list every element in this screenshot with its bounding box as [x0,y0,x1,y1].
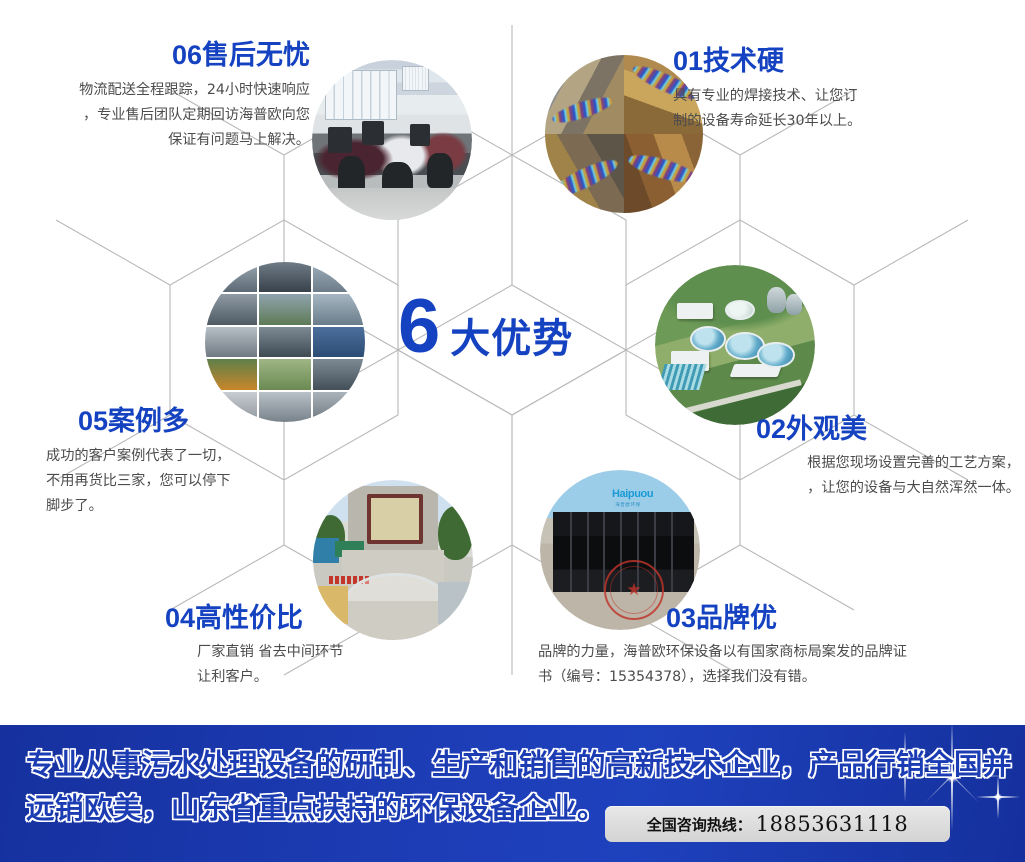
advantage-desc-02: 根据您现场设置完善的工艺方案， ，让您的设备与大自然浑然一体。 [600,451,1020,501]
photo-project-cases-collage [205,262,365,422]
advantage-title-06: 06售后无忧 [4,42,310,69]
photo-aerial-wastewater-plant [655,265,815,425]
advantage-block-03: 03品牌优 品牌的力量，海普欧环保设备以有国家商标局案发的品牌证 书（编号：15… [538,605,1018,690]
center-title: 大优势 [450,319,573,359]
hotline-label: 全国咨询热线： [647,814,752,835]
advantage-title-03: 03品牌优 [538,605,1018,632]
advantage-desc-04: 厂家直销 省去中间环节 让利客户。 [165,640,495,690]
advantage-title-05: 05案例多 [78,408,408,435]
advantage-title-02: 02外观美 [600,416,1020,443]
advantage-desc-01: 具有专业的焊接技术、让您订 制的设备寿命延长30年以上。 [673,84,993,134]
advantage-block-04: 04高性价比 厂家直销 省去中间环节 让利客户。 [165,605,495,690]
banner-slogan: 专业从事污水处理设备的研制、生产和销售的高新技术企业，产品行销全国并 远销欧美，… [26,743,626,831]
advantage-block-02: 02外观美 根据您现场设置完善的工艺方案， ，让您的设备与大自然浑然一体。 [600,416,1020,501]
infographic-root: Haipuou 海普欧环保 ★ 6 大优势 06售后无忧 物流配送全程跟踪，24… [0,0,1025,862]
advantage-desc-06: 物流配送全程跟踪，24小时快速响应 ，专业售后团队定期回访海普欧向您 保证有问题… [4,78,310,153]
advantage-title-04: 04高性价比 [165,605,495,632]
banner-slogan-line2: 远销欧美，山东省重点扶持的环保设备企业。 [26,787,626,831]
advantage-title-01: 01技术硬 [673,48,993,75]
hotline-box[interactable]: 全国咨询热线： 18853631118 [605,806,950,842]
advantage-block-05: 05案例多 成功的客户案例代表了一切， 不用再货比三家，您可以停下 脚步了。 [78,408,408,519]
hotline-number: 18853631118 [756,812,908,836]
center-label: 6 大优势 [398,289,628,375]
advantage-desc-05: 成功的客户案例代表了一切， 不用再货比三家，您可以停下 脚步了。 [46,444,408,519]
banner-slogan-line1: 专业从事污水处理设备的研制、生产和销售的高新技术企业，产品行销全国并 [26,743,626,787]
photo-office-staff [312,60,472,220]
advantage-desc-03: 品牌的力量，海普欧环保设备以有国家商标局案发的品牌证 书（编号：15354378… [538,640,1018,690]
advantage-block-01: 01技术硬 具有专业的焊接技术、让您订 制的设备寿命延长30年以上。 [673,48,993,134]
advantage-block-06: 06售后无忧 物流配送全程跟踪，24小时快速响应 ，专业售后团队定期回访海普欧向… [4,42,310,153]
haipuou-watermark-sub: 海普欧环保 [615,502,641,508]
center-number: 6 [398,289,440,365]
